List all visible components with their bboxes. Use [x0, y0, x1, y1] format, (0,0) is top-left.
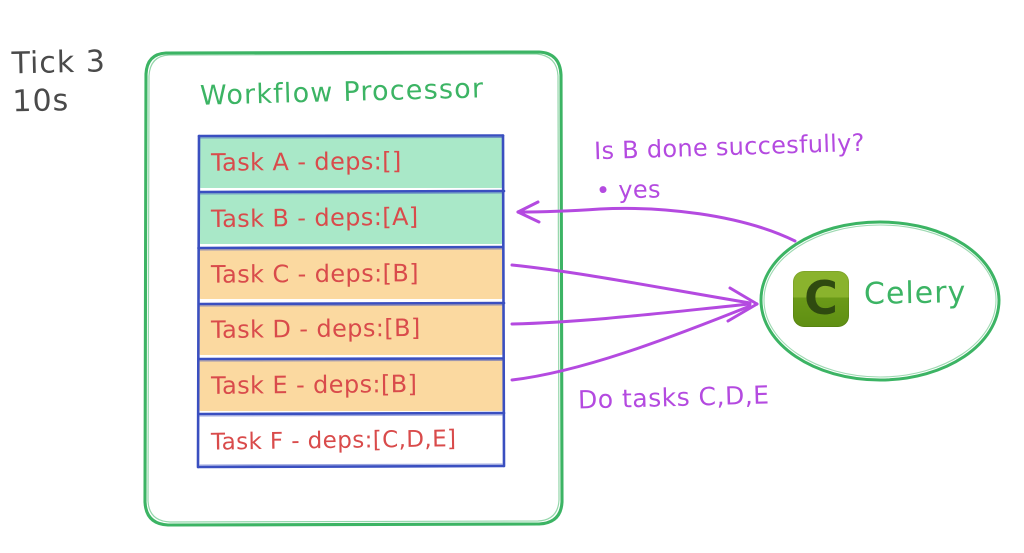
task-row-label: Task D - deps:[B]: [196, 314, 421, 344]
annotation-question: Is B done succesfully?: [594, 129, 865, 165]
annotation-answer: • yes: [596, 175, 661, 204]
task-row-label: Task A - deps:[]: [196, 147, 402, 177]
celery-node[interactable]: C Celery: [756, 218, 1004, 384]
task-row-list: Task A - deps:[] Task B - deps:[A] Task …: [196, 134, 507, 469]
tick-label-line2: 10s: [12, 80, 143, 120]
task-row[interactable]: Task D - deps:[B]: [196, 301, 507, 357]
celery-label: Celery: [864, 275, 967, 312]
celery-logo-icon: C: [793, 271, 849, 327]
celery-logo-letter: C: [793, 271, 849, 327]
task-row[interactable]: Task A - deps:[]: [196, 134, 507, 190]
task-row-label: Task F - deps:[C,D,E]: [196, 426, 457, 456]
task-table: Task A - deps:[] Task B - deps:[A] Task …: [196, 134, 507, 469]
annotation-command: Do tasks C,D,E: [578, 380, 770, 414]
celery-inbound-arrowhead: [728, 288, 757, 321]
task-row[interactable]: Task E - deps:[B]: [196, 357, 507, 413]
task-row[interactable]: Task B - deps:[A]: [196, 190, 507, 246]
tick-label: Tick 3 10s: [11, 43, 143, 121]
task-row-label: Task E - deps:[B]: [196, 370, 418, 400]
task-row-label: Task B - deps:[A]: [196, 202, 419, 233]
task-row[interactable]: Task F - deps:[C,D,E]: [196, 413, 507, 469]
tick-label-line1: Tick 3: [11, 44, 106, 81]
task-row-label: Task C - deps:[B]: [196, 259, 419, 289]
diagram-canvas: Tick 3 10s Workflow Processor Task A - d…: [0, 0, 1024, 553]
task-row[interactable]: Task C - deps:[B]: [196, 246, 507, 302]
